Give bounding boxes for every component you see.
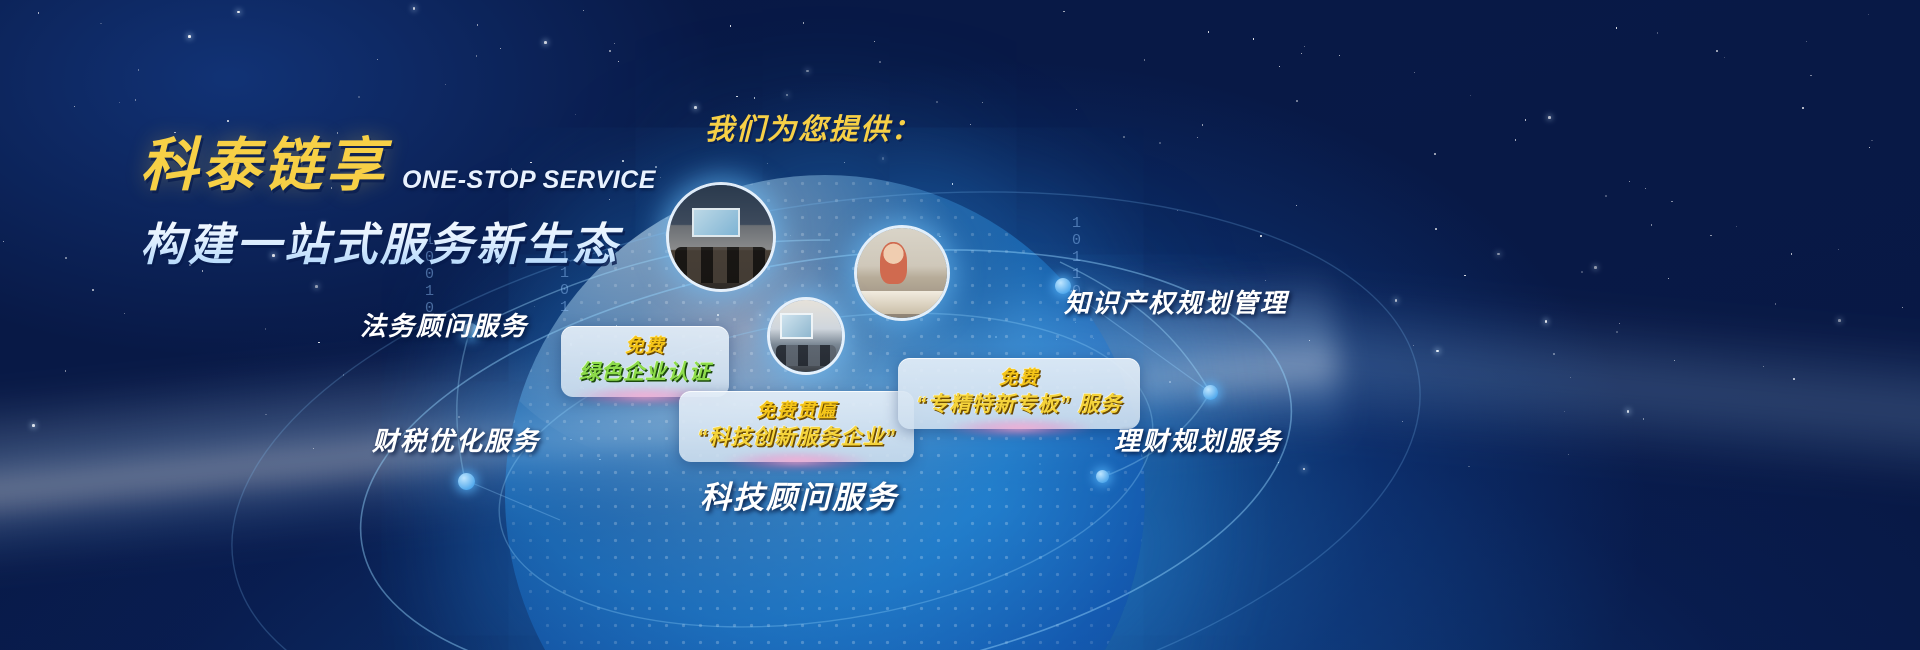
star-dot xyxy=(138,69,140,71)
star-dot xyxy=(1627,410,1630,413)
badge-board-line1: 免费 xyxy=(916,367,1122,391)
star-dot xyxy=(1616,27,1618,29)
star-dot xyxy=(1570,377,1571,378)
star-dot xyxy=(135,99,137,101)
star-dot xyxy=(1296,205,1297,206)
star-dot xyxy=(1902,307,1903,308)
star-dot xyxy=(1736,226,1737,227)
star-dot xyxy=(1581,271,1583,273)
star-dot xyxy=(343,374,345,376)
star-dot xyxy=(1553,353,1555,355)
star-dot xyxy=(1413,345,1414,346)
star-dot xyxy=(1278,462,1279,463)
star-dot xyxy=(1159,142,1161,144)
headline-english: ONE-STOP SERVICE xyxy=(402,166,656,195)
star-dot xyxy=(1464,275,1465,276)
star-dot xyxy=(1868,14,1869,15)
star-dot xyxy=(1657,32,1658,33)
star-dot xyxy=(500,48,501,49)
badge-green-line1: 免费 xyxy=(579,335,711,359)
star-dot xyxy=(1395,299,1398,302)
service-label-tax[interactable]: 财税优化服务 xyxy=(372,421,540,458)
star-dot xyxy=(1810,75,1812,77)
star-dot xyxy=(92,289,94,291)
star-dot xyxy=(476,55,478,57)
star-dot xyxy=(1303,468,1306,471)
star-dot xyxy=(1260,235,1262,237)
badge-tech-line2: “科技创新服务企业” xyxy=(697,424,896,451)
star-dot xyxy=(1594,266,1597,269)
star-dot xyxy=(1548,116,1551,119)
star-dot xyxy=(38,12,40,14)
service-label-wealth[interactable]: 理财规划服务 xyxy=(1114,421,1282,458)
star-dot xyxy=(1605,195,1607,197)
badge-specialized-board[interactable]: 免费 “专精特新专板” 服务 xyxy=(898,358,1140,429)
star-dot xyxy=(1414,72,1415,73)
star-dot xyxy=(74,106,75,107)
star-dot xyxy=(100,23,101,24)
star-dot xyxy=(1671,201,1672,202)
star-dot xyxy=(767,163,768,164)
star-dot xyxy=(1434,153,1436,155)
star-dot xyxy=(1525,119,1527,121)
star-dot xyxy=(803,22,805,24)
star-dot xyxy=(65,257,67,259)
star-dot xyxy=(844,162,845,163)
star-dot xyxy=(3,241,4,242)
star-dot xyxy=(318,342,320,344)
photo-training-image xyxy=(770,300,842,372)
star-dot xyxy=(1802,107,1804,109)
service-label-legal[interactable]: 法务顾问服务 xyxy=(360,306,528,343)
banner-stage: 1 0 0 1 0 1 1 1 0 1 1 0 1 1 0 科泰链享 ONE-S… xyxy=(0,0,1920,650)
star-dot xyxy=(936,101,938,103)
star-dot xyxy=(1435,228,1437,230)
photo-bubble-seminar xyxy=(666,182,776,292)
star-dot xyxy=(458,416,460,418)
star-dot xyxy=(544,41,547,44)
star-dot xyxy=(1793,378,1795,380)
star-dot xyxy=(1616,331,1618,333)
star-dot xyxy=(377,59,378,60)
star-dot xyxy=(1515,139,1517,141)
star-dot xyxy=(1253,38,1255,40)
photo-bubble-consultant xyxy=(854,225,950,321)
star-dot xyxy=(1564,411,1565,412)
star-dot xyxy=(575,114,576,115)
star-dot xyxy=(1470,95,1471,96)
star-dot xyxy=(313,448,314,449)
star-dot xyxy=(1651,224,1653,226)
star-dot xyxy=(65,370,66,371)
star-dot xyxy=(1791,253,1792,254)
badge-tech-innovation[interactable]: 免费贯匾 “科技创新服务企业” xyxy=(679,391,914,462)
star-dot xyxy=(879,61,881,63)
service-label-ip[interactable]: 知识产权规划管理 xyxy=(1064,283,1288,320)
star-dot xyxy=(982,102,983,103)
star-dot xyxy=(1619,323,1620,324)
star-dot xyxy=(1645,188,1646,189)
star-dot xyxy=(874,41,876,43)
star-dot xyxy=(694,106,697,109)
star-dot xyxy=(786,94,789,97)
photo-seminar-image xyxy=(669,185,773,289)
star-dot xyxy=(1629,181,1631,183)
photo-consultant-image xyxy=(857,228,947,318)
star-dot xyxy=(358,96,360,98)
star-dot xyxy=(1468,466,1469,467)
star-dot xyxy=(1838,319,1841,322)
star-dot xyxy=(1304,46,1305,47)
star-dot xyxy=(1763,366,1764,367)
star-dot xyxy=(882,157,885,160)
star-dot xyxy=(1545,320,1548,323)
star-dot xyxy=(1710,235,1711,236)
star-dot xyxy=(1279,66,1280,67)
star-dot xyxy=(1402,421,1403,422)
star-dot xyxy=(1668,278,1669,279)
star-dot xyxy=(618,61,619,62)
star-dot xyxy=(32,424,35,427)
star-dot xyxy=(970,124,971,125)
star-dot xyxy=(1497,253,1500,256)
star-dot xyxy=(119,102,120,103)
star-dot xyxy=(614,43,615,44)
star-dot xyxy=(188,35,191,38)
star-dot xyxy=(583,10,584,11)
star-dot xyxy=(1076,109,1077,110)
node-dot-bottom xyxy=(1096,470,1109,483)
star-dot xyxy=(1643,418,1644,419)
star-dot xyxy=(265,328,266,329)
star-dot xyxy=(609,50,611,52)
star-dot xyxy=(1301,53,1302,54)
star-dot xyxy=(1674,360,1675,361)
star-dot xyxy=(1871,140,1872,141)
star-dot xyxy=(754,97,755,98)
star-dot xyxy=(736,96,738,98)
star-dot xyxy=(1063,11,1064,12)
headline-block: 科泰链享 ONE-STOP SERVICE 构建一站式服务新生态 xyxy=(140,118,656,273)
badge-tech-line1: 免费贯匾 xyxy=(697,400,896,424)
star-dot xyxy=(413,7,416,10)
star-dot xyxy=(265,414,267,416)
star-dot xyxy=(315,285,318,288)
star-dot xyxy=(1265,280,1266,281)
photo-bubble-training xyxy=(767,297,845,375)
headline-main: 科泰链享 xyxy=(140,118,388,202)
star-dot xyxy=(1202,124,1204,126)
service-label-tech[interactable]: 科技顾问服务 xyxy=(700,472,898,517)
star-dot xyxy=(1568,454,1569,455)
star-dot xyxy=(1123,136,1125,138)
node-dot-left-lower xyxy=(458,473,475,490)
star-dot xyxy=(1339,55,1340,56)
star-dot xyxy=(1197,137,1198,138)
star-dot xyxy=(445,84,446,85)
star-dot xyxy=(1169,381,1171,383)
star-dot xyxy=(1144,59,1145,60)
star-dot xyxy=(1869,147,1870,148)
star-dot xyxy=(730,25,732,27)
badge-green-line2: 绿色企业认证 xyxy=(579,359,711,386)
star-dot xyxy=(237,11,240,14)
star-dot xyxy=(1716,50,1718,52)
star-dot xyxy=(477,24,478,25)
star-dot xyxy=(1724,57,1725,58)
star-dot xyxy=(1296,100,1298,102)
star-dot xyxy=(1838,249,1839,250)
badge-board-line2: “专精特新专板” 服务 xyxy=(916,391,1122,418)
star-dot xyxy=(1775,303,1777,305)
badge-green-certification[interactable]: 免费 绿色企业认证 xyxy=(561,326,729,397)
star-dot xyxy=(1208,31,1210,33)
node-dot-right-lower xyxy=(1203,385,1218,400)
star-dot xyxy=(124,313,126,315)
star-dot xyxy=(952,183,953,184)
star-dot xyxy=(806,70,809,73)
star-dot xyxy=(1436,350,1439,353)
star-dot xyxy=(1177,210,1178,211)
star-dot xyxy=(1309,340,1310,341)
star-dot xyxy=(1806,41,1807,42)
headline-subtitle: 构建一站式服务新生态 xyxy=(140,208,656,273)
offer-prompt: 我们为您提供： xyxy=(705,106,922,148)
